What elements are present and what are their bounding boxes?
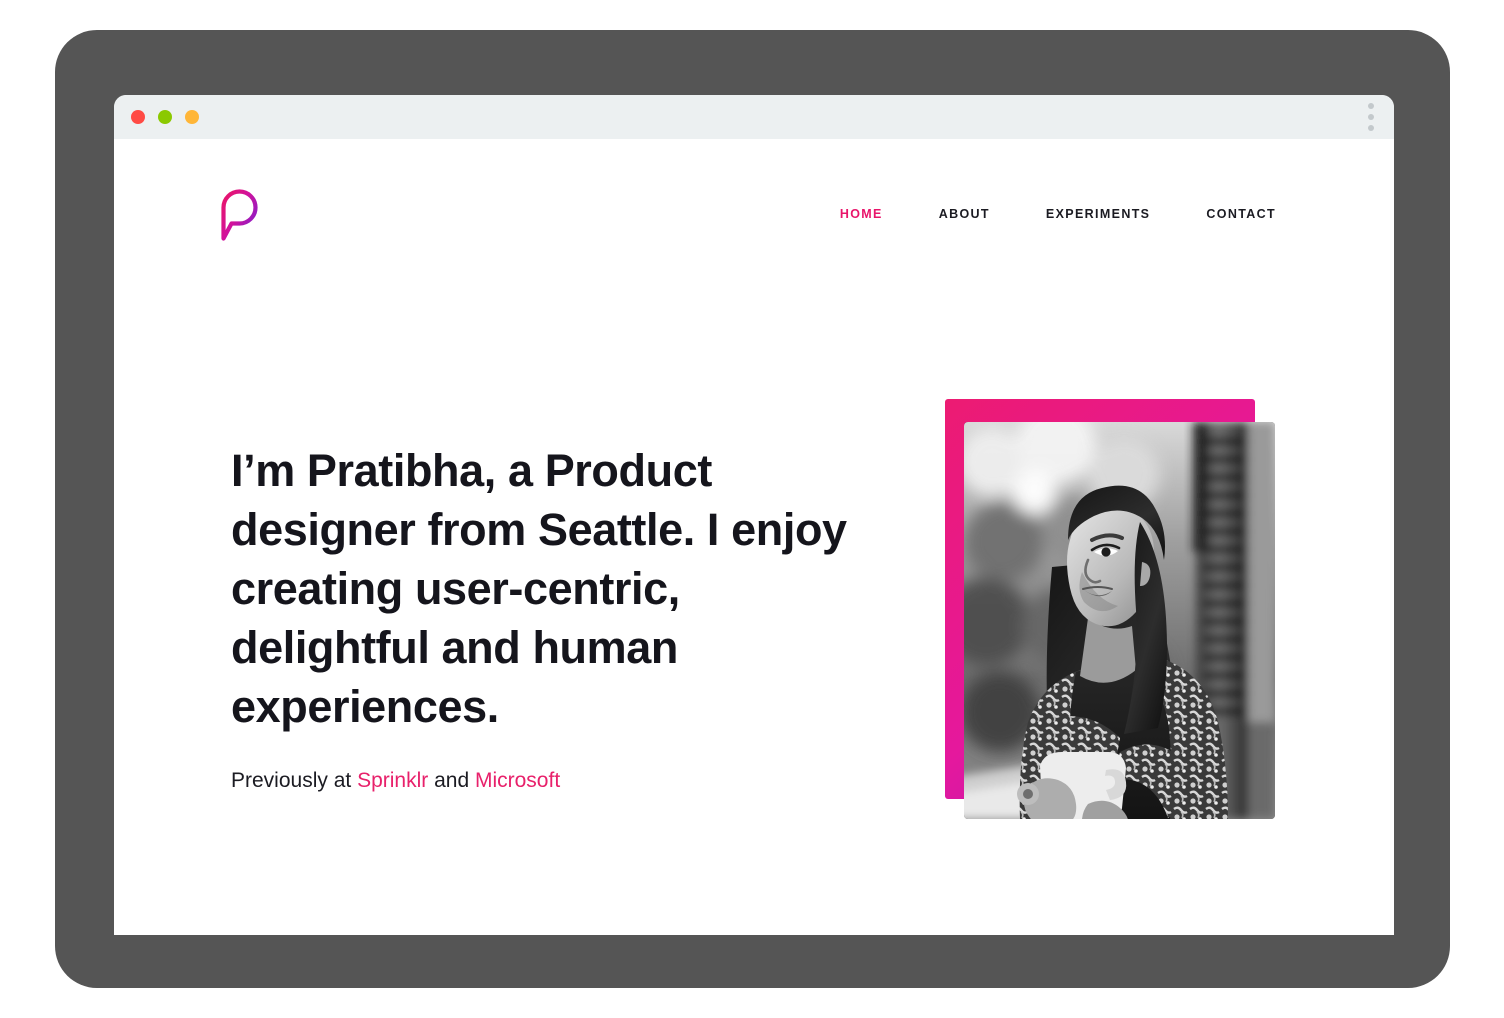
nav-link-about[interactable]: ABOUT (939, 201, 990, 227)
nav-link-experiments[interactable]: EXPERIMENTS (1046, 201, 1150, 227)
microsoft-link[interactable]: Microsoft (475, 769, 560, 792)
subline-middle: and (428, 769, 475, 792)
brand-logo-link[interactable] (218, 186, 262, 242)
hero-section: I’m Pratibha, a Product designer from Se… (114, 289, 1394, 935)
minimize-window-icon[interactable] (158, 110, 172, 124)
window-controls (131, 110, 199, 124)
maximize-window-icon[interactable] (185, 110, 199, 124)
portrait-photo (964, 422, 1275, 819)
hero-subline: Previously at Sprinklr and Microsoft (231, 766, 851, 796)
nav-link-home[interactable]: HOME (840, 201, 883, 227)
kebab-dot (1368, 125, 1374, 131)
site-header: HOME ABOUT EXPERIMENTS CONTACT (114, 139, 1394, 289)
page-content: HOME ABOUT EXPERIMENTS CONTACT I’m Prati… (114, 139, 1394, 935)
close-window-icon[interactable] (131, 110, 145, 124)
main-navigation: HOME ABOUT EXPERIMENTS CONTACT (840, 201, 1276, 227)
portrait-photo-image (964, 422, 1275, 819)
hero-heading: I’m Pratibha, a Product designer from Se… (231, 441, 851, 736)
subline-prefix: Previously at (231, 769, 357, 792)
sprinklr-link[interactable]: Sprinklr (357, 769, 428, 792)
kebab-dot (1368, 103, 1374, 109)
pratibha-logo-icon (218, 186, 262, 242)
kebab-dot (1368, 114, 1374, 120)
hero-copy: I’m Pratibha, a Product designer from Se… (231, 441, 851, 796)
browser-window: HOME ABOUT EXPERIMENTS CONTACT I’m Prati… (114, 95, 1394, 935)
browser-title-bar (114, 95, 1394, 139)
kebab-menu-icon[interactable] (1368, 103, 1374, 131)
nav-link-contact[interactable]: CONTACT (1206, 201, 1276, 227)
hero-media (945, 399, 1275, 819)
